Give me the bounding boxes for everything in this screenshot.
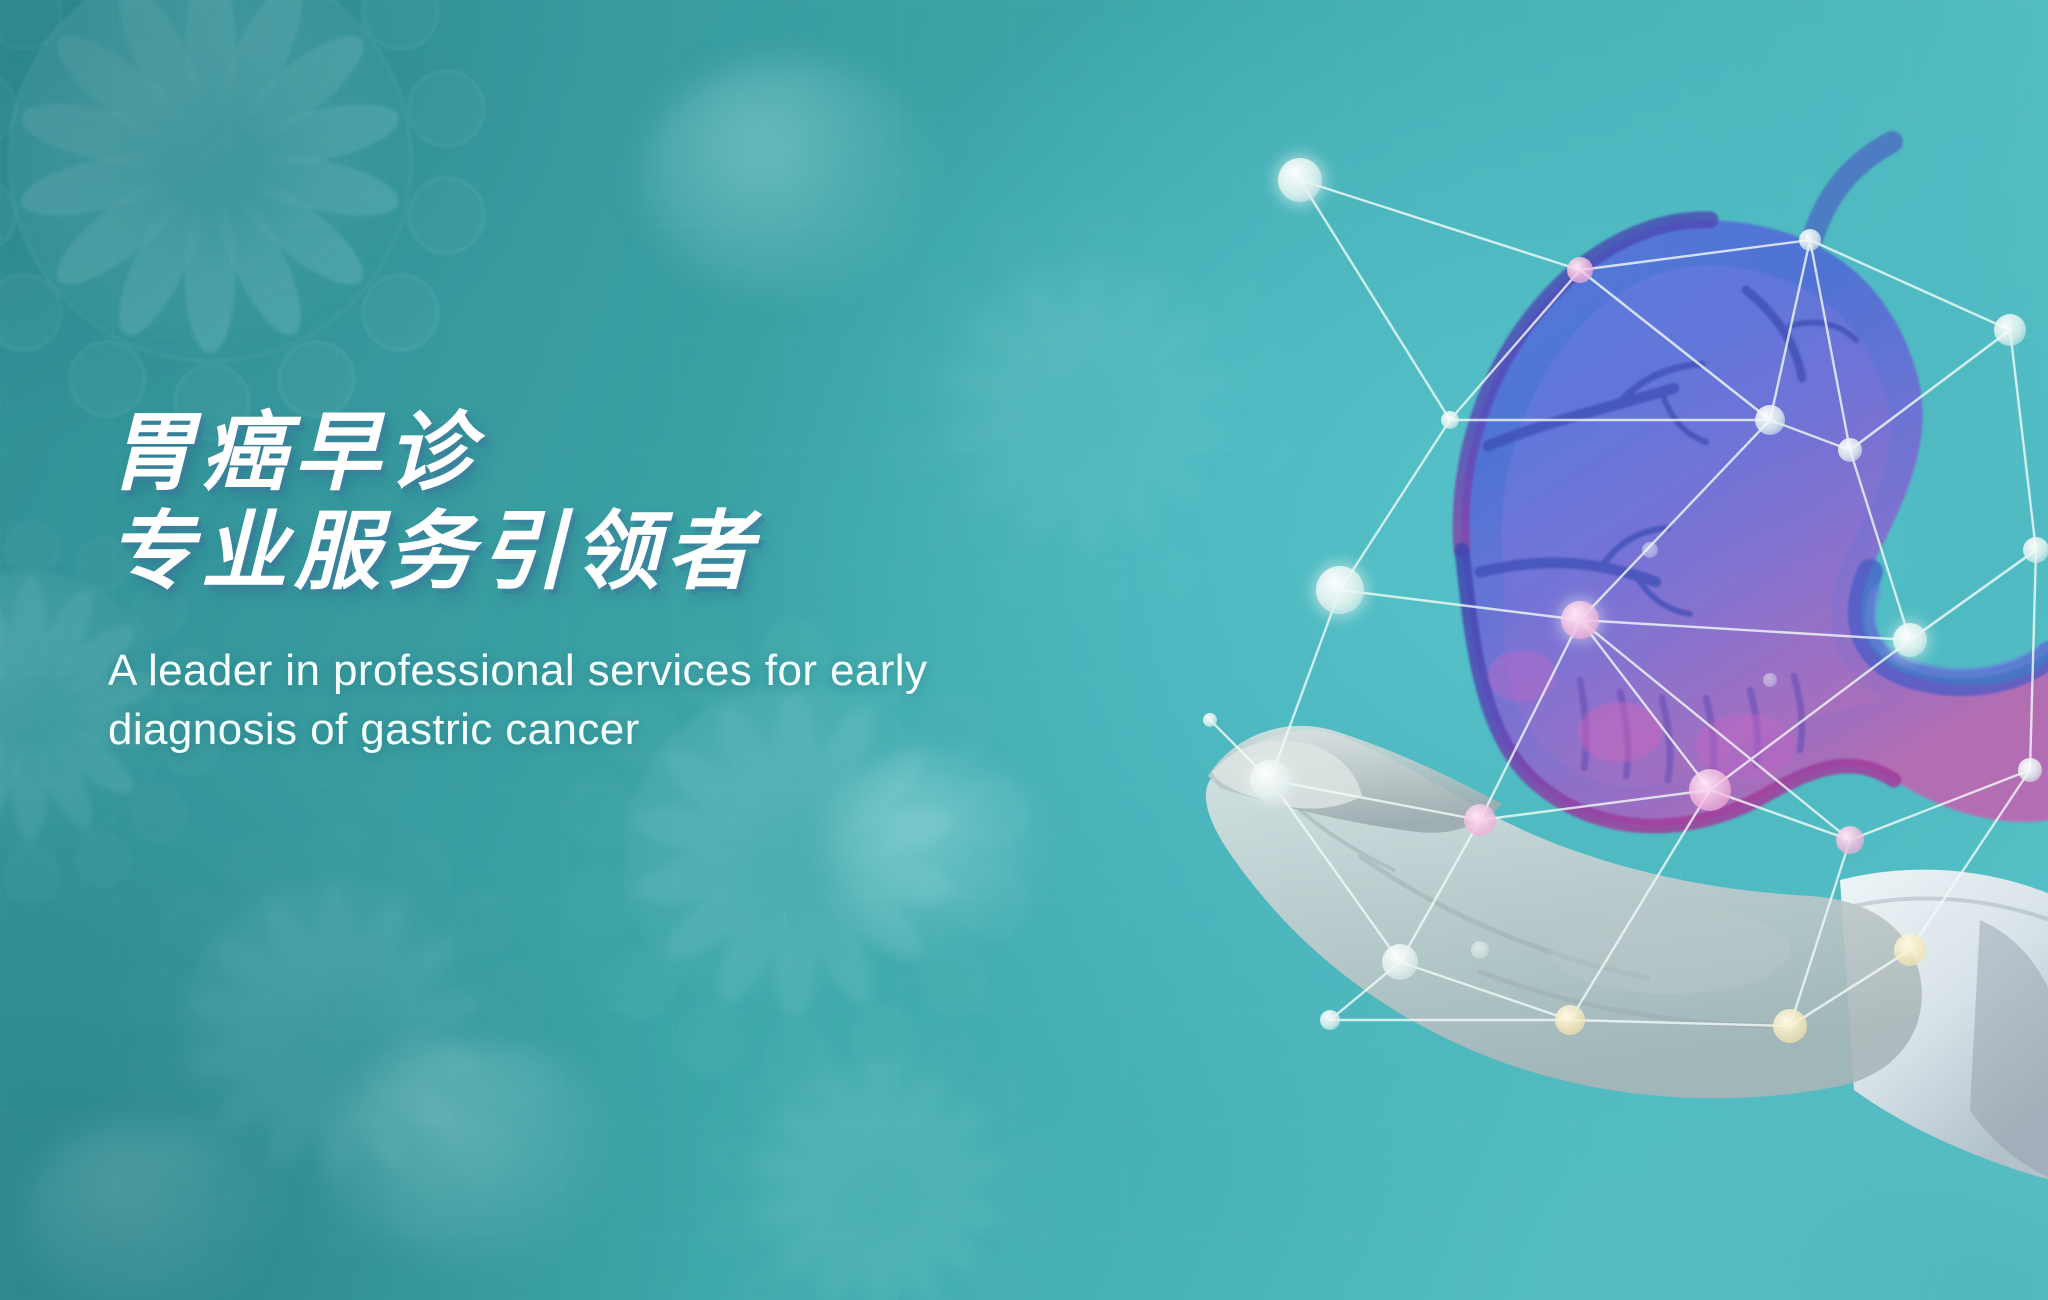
headline-block: 胃癌早诊 专业服务引领者 A leader in professional se… (108, 408, 1148, 759)
stomach-hand-illustration (1150, 120, 2048, 1300)
page-title-line-2: 专业服务引领者 (108, 507, 1148, 598)
page-title-line-1: 胃癌早诊 (108, 408, 1148, 499)
gastric-cancer-banner: 胃癌早诊 专业服务引领者 A leader in professional se… (0, 0, 2048, 1300)
stomach-organ-icon (1461, 142, 2048, 826)
subtitle-text: A leader in professional services for ea… (108, 642, 1118, 759)
